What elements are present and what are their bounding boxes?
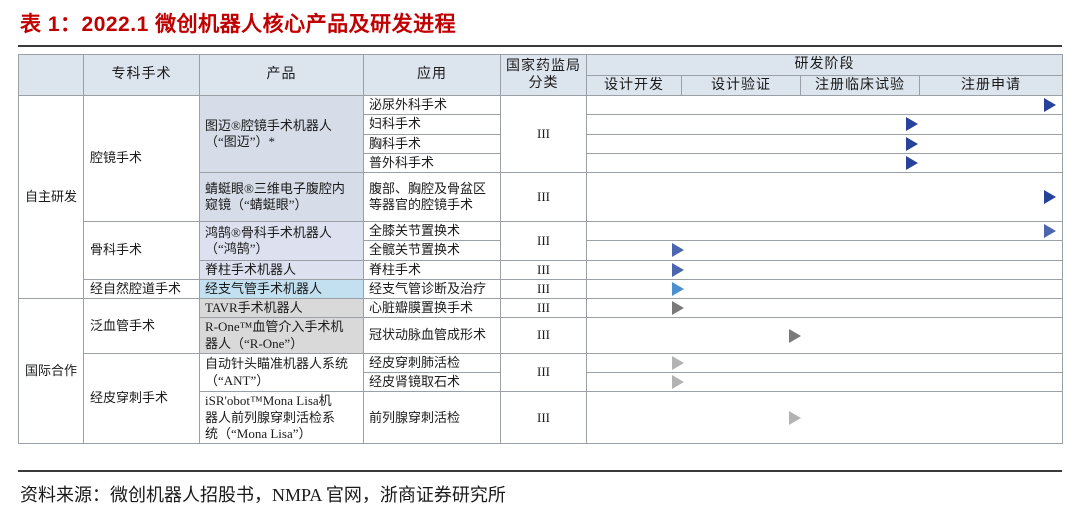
- figure-title: 表 1：2022.1 微创机器人核心产品及研发进程: [20, 8, 456, 38]
- application-line2: 等器官的腔镜手术: [369, 197, 496, 213]
- table-head: 专科手术 产品 应用 国家药监局 分类 研发阶段 设计开发 设计验证 注册临床试…: [19, 55, 1063, 96]
- classification-cell: III: [501, 299, 587, 318]
- group-cell: 自主研发: [19, 96, 84, 299]
- product-name-line1: TAVR手术机器人: [205, 300, 359, 316]
- arrow-head-icon: [672, 282, 684, 296]
- stage-progress-cell: [587, 222, 1063, 241]
- table-body: 自主研发腔镜手术图迈®腔镜手术机器人（“图迈”）*泌尿外科手术III妇科手术胸科…: [19, 96, 1063, 444]
- stage-progress-cell: [587, 241, 1063, 260]
- product-name-line1: 脊柱手术机器人: [205, 262, 359, 278]
- stage-progress-cell: [587, 173, 1063, 222]
- stage-progress-cell: [587, 392, 1063, 444]
- product-name-line2: （“鸿鹄”）: [205, 241, 359, 257]
- application-cell: 心脏瓣膜置换手术: [364, 299, 501, 318]
- progress-arrow: [591, 98, 1044, 112]
- stage-progress-cell: [587, 318, 1063, 354]
- classification-cell: III: [501, 279, 587, 298]
- header-row-1: 专科手术 产品 应用 国家药监局 分类 研发阶段: [19, 55, 1063, 76]
- classification-cell: III: [501, 96, 587, 173]
- source-note: 资料来源：微创机器人招股书，NMPA 官网，浙商证券研究所: [20, 481, 506, 507]
- progress-arrow: [591, 137, 906, 151]
- specialty-cell: 骨科手术: [84, 222, 200, 280]
- table-row: 经自然腔道手术经支气管手术机器人经支气管诊断及治疗III: [19, 279, 1063, 298]
- product-name-line2: 器人前列腺穿刺活检系: [205, 410, 359, 426]
- product-pipeline-table: 专科手术 产品 应用 国家药监局 分类 研发阶段 设计开发 设计验证 注册临床试…: [18, 54, 1062, 466]
- classification-cell: III: [501, 222, 587, 261]
- col-group-header: [19, 55, 84, 96]
- progress-arrow: [591, 156, 906, 170]
- arrow-head-icon: [672, 375, 684, 389]
- application-cell: 胸科手术: [364, 134, 501, 153]
- stage-progress-cell: [587, 153, 1063, 172]
- product-cell: TAVR手术机器人: [200, 299, 364, 318]
- product-name-line1: 经支气管手术机器人: [205, 281, 359, 297]
- arrow-head-icon: [672, 301, 684, 315]
- application-cell: 经皮肾镜取石术: [364, 373, 501, 392]
- arrow-head-icon: [789, 329, 801, 343]
- product-name-line2: 窥镜（“蜻蜓眼”）: [205, 197, 359, 213]
- arrow-head-icon: [789, 411, 801, 425]
- classification-cell: III: [501, 353, 587, 392]
- col-application-header: 应用: [364, 55, 501, 96]
- stage-progress-cell: [587, 115, 1063, 134]
- progress-arrow: [591, 356, 672, 370]
- specialty-cell: 经皮穿刺手术: [84, 353, 200, 443]
- progress-arrow: [591, 282, 672, 296]
- stage-header-1: 设计验证: [682, 75, 801, 96]
- application-cell: 经支气管诊断及治疗: [364, 279, 501, 298]
- product-cell: R-One™血管介入手术机器人（“R-One”）: [200, 318, 364, 354]
- classification-header-line2: 分类: [505, 75, 582, 93]
- product-name-line3: 统（“Mona Lisa”）: [205, 426, 359, 442]
- product-name-line1: 蜻蜓眼®三维电子腹腔内: [205, 181, 359, 197]
- application-line1: 腹部、胸腔及骨盆区: [369, 181, 496, 197]
- stage-progress-cell: [587, 134, 1063, 153]
- progress-arrow: [591, 301, 672, 315]
- top-rule: [18, 45, 1062, 47]
- arrow-head-icon: [1044, 224, 1056, 238]
- bottom-rule: [18, 470, 1062, 472]
- product-name-line1: 自动针头瞄准机器人系统: [205, 356, 359, 372]
- table-row: 自主研发腔镜手术图迈®腔镜手术机器人（“图迈”）*泌尿外科手术III: [19, 96, 1063, 115]
- arrow-head-icon: [906, 137, 918, 151]
- specialty-cell: 腔镜手术: [84, 96, 200, 222]
- arrow-head-icon: [906, 117, 918, 131]
- progress-arrow: [591, 224, 1044, 238]
- product-cell: iSR'obot™Mona Lisa机器人前列腺穿刺活检系统（“Mona Lis…: [200, 392, 364, 444]
- col-stage-group-header: 研发阶段: [587, 55, 1063, 76]
- stage-header-3: 注册申请: [920, 75, 1063, 96]
- table-row: 国际合作泛血管手术TAVR手术机器人心脏瓣膜置换手术III: [19, 299, 1063, 318]
- application-cell: 经皮穿刺肺活检: [364, 353, 501, 372]
- arrow-head-icon: [672, 243, 684, 257]
- application-cell: 妇科手术: [364, 115, 501, 134]
- table-row: 骨科手术鸿鹄®骨科手术机器人（“鸿鹄”）全膝关节置换术III: [19, 222, 1063, 241]
- classification-header-line1: 国家药监局: [505, 58, 582, 76]
- stage-header-2: 注册临床试验: [801, 75, 920, 96]
- product-cell: 鸿鹄®骨科手术机器人（“鸿鹄”）: [200, 222, 364, 261]
- specialty-cell: 经自然腔道手术: [84, 279, 200, 298]
- stage-header-0: 设计开发: [587, 75, 682, 96]
- product-cell: 经支气管手术机器人: [200, 279, 364, 298]
- table-row: 经皮穿刺手术自动针头瞄准机器人系统（“ANT”）经皮穿刺肺活检III: [19, 353, 1063, 372]
- table-figure: 表 1：2022.1 微创机器人核心产品及研发进程 专科手术 产品 应用: [0, 0, 1080, 525]
- progress-arrow: [591, 329, 789, 343]
- progress-arrow: [591, 190, 1044, 204]
- product-name-line2: （“ANT”）: [205, 373, 359, 389]
- product-name-line1: 鸿鹄®骨科手术机器人: [205, 225, 359, 241]
- progress-arrow: [591, 243, 672, 257]
- product-name-line1: iSR'obot™Mona Lisa机: [205, 393, 359, 409]
- stage-progress-cell: [587, 260, 1063, 279]
- arrow-head-icon: [906, 156, 918, 170]
- product-cell: 脊柱手术机器人: [200, 260, 364, 279]
- stage-progress-cell: [587, 96, 1063, 115]
- stage-progress-cell: [587, 373, 1063, 392]
- stage-progress-cell: [587, 299, 1063, 318]
- classification-cell: III: [501, 318, 587, 354]
- product-cell: 自动针头瞄准机器人系统（“ANT”）: [200, 353, 364, 392]
- application-cell: 腹部、胸腔及骨盆区等器官的腔镜手术: [364, 173, 501, 222]
- progress-arrow: [591, 117, 906, 131]
- application-cell: 泌尿外科手术: [364, 96, 501, 115]
- col-classification-header: 国家药监局 分类: [501, 55, 587, 96]
- stage-progress-cell: [587, 353, 1063, 372]
- progress-arrow: [591, 411, 789, 425]
- progress-arrow: [591, 375, 672, 389]
- product-cell: 图迈®腔镜手术机器人（“图迈”）*: [200, 96, 364, 173]
- col-specialty-header: 专科手术: [84, 55, 200, 96]
- application-cell: 冠状动脉血管成形术: [364, 318, 501, 354]
- classification-cell: III: [501, 173, 587, 222]
- product-name-line2: 器人（“R-One”）: [205, 336, 359, 352]
- application-cell: 全髋关节置换术: [364, 241, 501, 260]
- application-cell: 脊柱手术: [364, 260, 501, 279]
- application-cell: 全膝关节置换术: [364, 222, 501, 241]
- product-name-line2: （“图迈”）*: [205, 134, 359, 150]
- arrow-head-icon: [1044, 98, 1056, 112]
- application-cell: 普外科手术: [364, 153, 501, 172]
- col-product-header: 产品: [200, 55, 364, 96]
- group-cell: 国际合作: [19, 299, 84, 444]
- product-cell: 蜻蜓眼®三维电子腹腔内窥镜（“蜻蜓眼”）: [200, 173, 364, 222]
- arrow-head-icon: [672, 356, 684, 370]
- classification-cell: III: [501, 392, 587, 444]
- arrow-head-icon: [1044, 190, 1056, 204]
- product-name-line1: R-One™血管介入手术机: [205, 319, 359, 335]
- progress-arrow: [591, 263, 672, 277]
- stage-progress-cell: [587, 279, 1063, 298]
- application-cell: 前列腺穿刺活检: [364, 392, 501, 444]
- product-name-line1: 图迈®腔镜手术机器人: [205, 118, 359, 134]
- classification-cell: III: [501, 260, 587, 279]
- arrow-head-icon: [672, 263, 684, 277]
- pipeline-grid: 专科手术 产品 应用 国家药监局 分类 研发阶段 设计开发 设计验证 注册临床试…: [18, 54, 1063, 444]
- specialty-cell: 泛血管手术: [84, 299, 200, 354]
